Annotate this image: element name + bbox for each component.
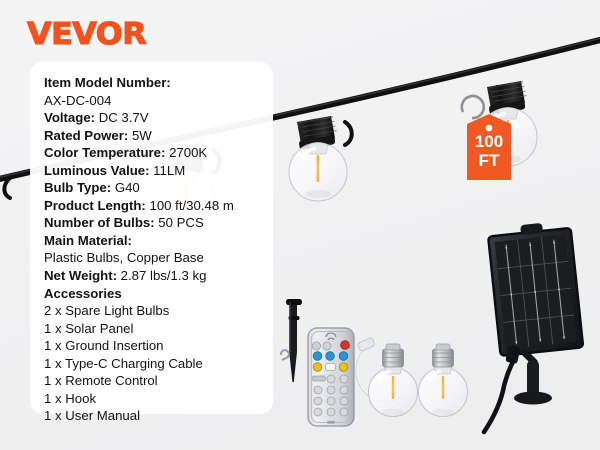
spec-value: 2700K <box>165 145 207 160</box>
spec-value: 2.87 lbs/1.3 kg <box>117 268 206 283</box>
spec-value: 5W <box>128 128 151 143</box>
spec-row: AX-DC-004 <box>44 92 267 110</box>
spec-label: Item Model Number: <box>44 75 171 90</box>
product-spec-image: 100 FT VEVOR Item Model Number:AX-DC-004… <box>0 0 600 450</box>
accessories-heading: Accessories <box>44 285 267 303</box>
spec-row: Plastic Bulbs, Copper Base <box>44 249 267 267</box>
spec-row: Product Length: 100 ft/30.48 m <box>44 197 267 215</box>
length-tag-line2: FT <box>467 151 511 170</box>
accessory-item: 1 x User Manual <box>44 407 267 425</box>
accessory-item: 1 x Remote Control <box>44 372 267 390</box>
spec-label: Bulb Type: <box>44 180 111 195</box>
spec-value: 100 ft/30.48 m <box>146 198 234 213</box>
spec-label: Net Weight: <box>44 268 117 283</box>
spec-row: Item Model Number: <box>44 74 267 92</box>
spec-label: Luminous Value: <box>44 163 150 178</box>
spec-row: Rated Power: 5W <box>44 127 267 145</box>
spec-label: Voltage: <box>44 110 95 125</box>
spec-value: AX-DC-004 <box>44 93 111 108</box>
accessory-item: 1 x Type-C Charging Cable <box>44 355 267 373</box>
spec-label: Main Material: <box>44 233 132 248</box>
accessory-item: 1 x Ground Insertion <box>44 337 267 355</box>
accessory-item: 2 x Spare Light Bulbs <box>44 302 267 320</box>
spec-row: Color Temperature: 2700K <box>44 144 267 162</box>
vevor-logo: VEVOR <box>27 20 146 50</box>
spec-value: G40 <box>111 180 140 195</box>
spec-row: Luminous Value: 11LM <box>44 162 267 180</box>
spec-label: Number of Bulbs: <box>44 215 155 230</box>
specification-list: Item Model Number:AX-DC-004Voltage: DC 3… <box>44 74 267 425</box>
spec-label: Product Length: <box>44 198 146 213</box>
spec-row: Number of Bulbs: 50 PCS <box>44 214 267 232</box>
spec-label: Rated Power: <box>44 128 128 143</box>
accessory-item: 1 x Solar Panel <box>44 320 267 338</box>
specification-card: Item Model Number:AX-DC-004Voltage: DC 3… <box>30 62 273 414</box>
spec-value: 11LM <box>150 163 186 178</box>
spec-value: 50 PCS <box>155 215 204 230</box>
length-tag-line1: 100 <box>467 132 511 151</box>
accessory-item: 1 x Hook <box>44 390 267 408</box>
spec-value: DC 3.7V <box>95 110 149 125</box>
spec-value: Plastic Bulbs, Copper Base <box>44 250 204 265</box>
length-tag-text: 100 FT <box>467 132 511 170</box>
spec-row: Voltage: DC 3.7V <box>44 109 267 127</box>
spec-row: Main Material: <box>44 232 267 250</box>
spec-label: Color Temperature: <box>44 145 165 160</box>
spec-row: Bulb Type: G40 <box>44 179 267 197</box>
remote-control <box>308 328 354 426</box>
spec-row: Net Weight: 2.87 lbs/1.3 kg <box>44 267 267 285</box>
